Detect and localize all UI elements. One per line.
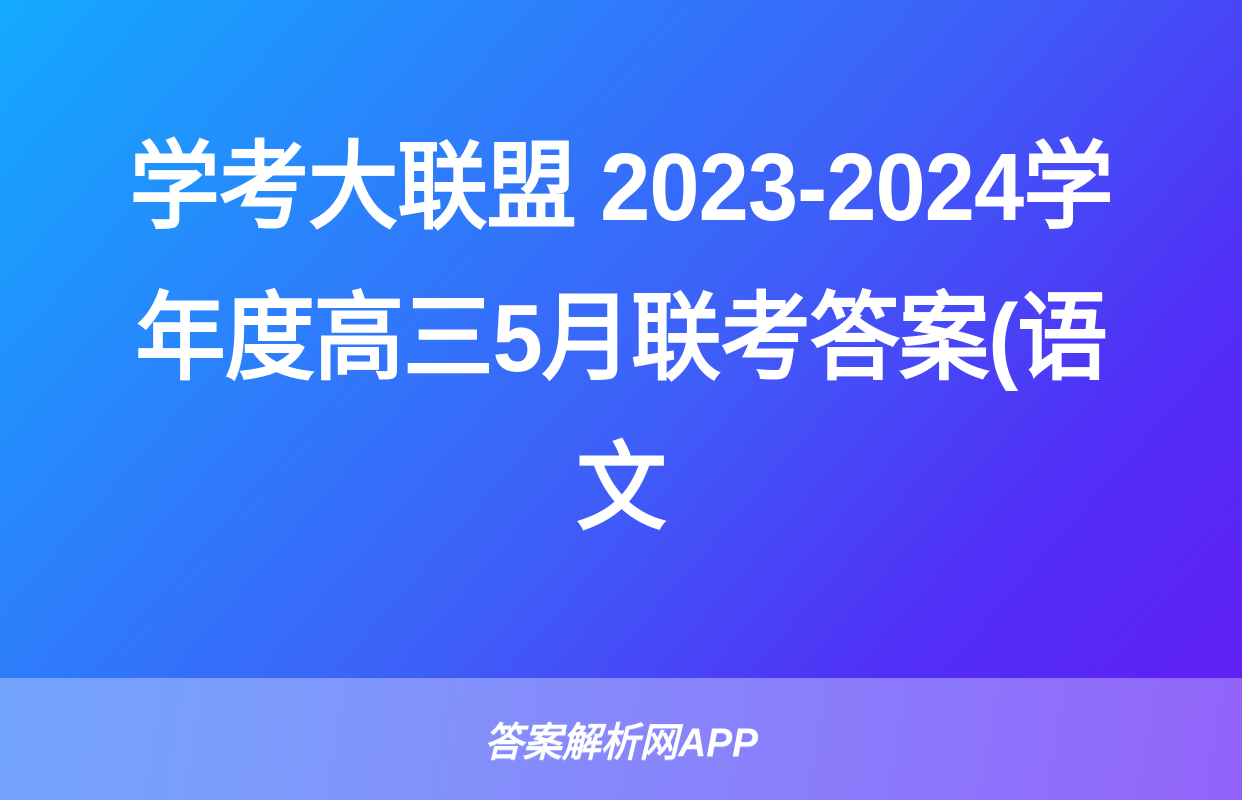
title-block: 学考大联盟 2023-2024学年度高三5月联考答案(语文: [71, 113, 1171, 565]
watermark-band: 答案解析网APP: [0, 678, 1242, 800]
page-title: 学考大联盟 2023-2024学年度高三5月联考答案(语文: [112, 113, 1131, 565]
poster-canvas: 学考大联盟 2023-2024学年度高三5月联考答案(语文 答案解析网APP: [0, 0, 1242, 800]
hero-gradient-panel: 学考大联盟 2023-2024学年度高三5月联考答案(语文: [0, 0, 1242, 678]
app-watermark-label: 答案解析网APP: [484, 710, 758, 768]
